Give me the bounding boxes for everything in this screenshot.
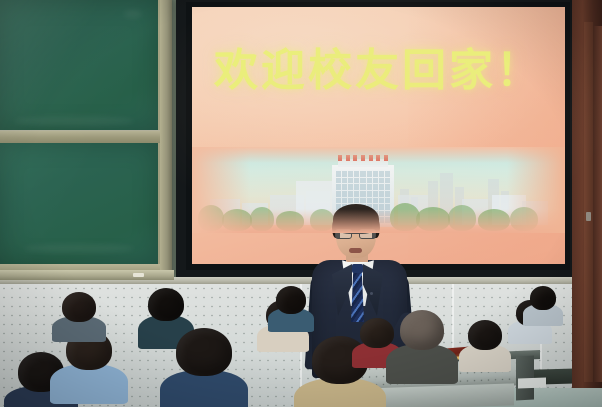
attendee-head [468,320,502,350]
door-handle[interactable] [586,212,591,221]
presenter-tie-knot [352,264,363,273]
door-leaf[interactable] [593,26,602,382]
chalk-stick [133,273,144,277]
campus-photo-fade [192,147,250,233]
attendee-head [400,310,444,350]
chalkboard-panel-upper [0,0,158,130]
attendee-shoulders [386,344,458,384]
attendee-head [530,286,556,310]
presenter-jacket-button [370,292,373,295]
slide-title: 欢迎校友回家！ [192,49,565,93]
podium-lower-panel [364,383,514,407]
presenter-mouth [349,248,362,253]
podium-shelf [518,378,546,389]
attendee-head [360,318,394,348]
campus-photo-fade [507,147,565,233]
chalkboard-panel-lower [0,142,158,264]
chalk-tray [0,270,174,280]
campus-photo [192,147,565,233]
lecture-hall-photo: 欢迎校友回家！ [0,0,602,407]
chalkboard-divider-rail [0,130,162,143]
attendee-shoulders [50,364,128,404]
attendee-head [176,328,232,376]
door-jamb [584,22,593,382]
attendee-head [62,292,96,322]
attendee-head [148,288,184,321]
attendee-head [276,286,306,314]
chalkboard [0,0,172,278]
chalkboard-right-edge [160,0,172,278]
projection-screen: 欢迎校友回家！ [192,7,565,264]
